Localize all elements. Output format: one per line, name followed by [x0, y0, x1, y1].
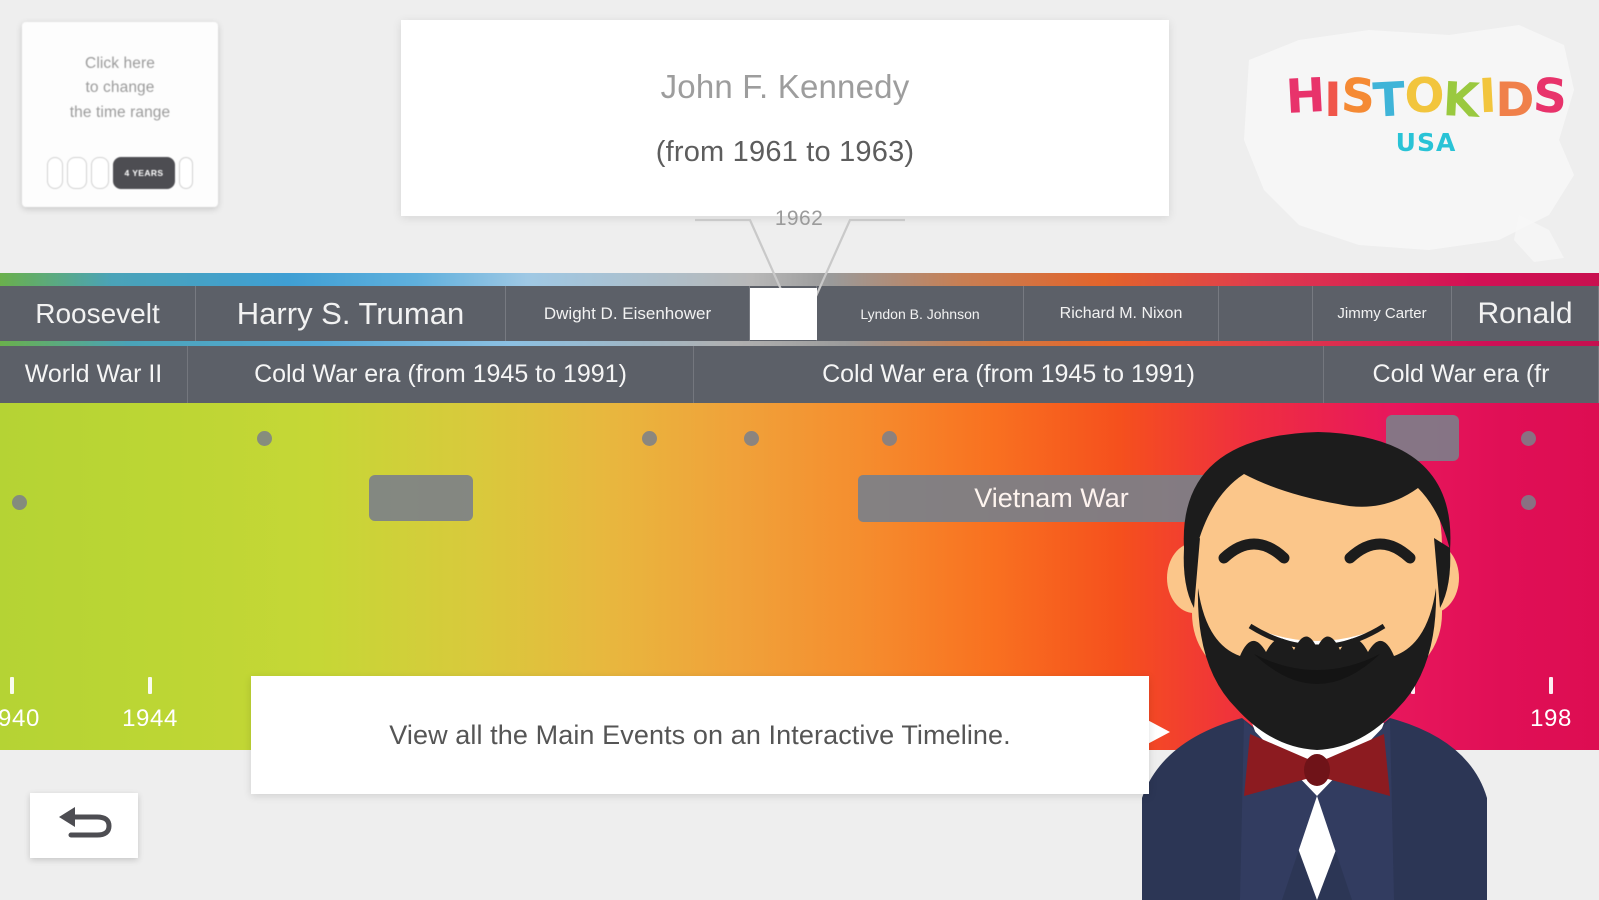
logo-letter-1: I	[1324, 77, 1341, 124]
event-chip-marker[interactable]	[369, 475, 473, 521]
president-cell[interactable]: Jimmy Carter	[1313, 286, 1452, 341]
logo-letter-7: D	[1495, 77, 1533, 124]
time-range-hint-line-2: to change	[70, 76, 171, 100]
event-dot-marker[interactable]	[1521, 431, 1536, 446]
event-chip-marker[interactable]	[1386, 415, 1459, 461]
era-cell[interactable]: Cold War era (from 1945 to 1991)	[188, 346, 694, 403]
era-cell[interactable]: World War II	[0, 346, 188, 403]
time-range-hint: Click here to change the time range	[70, 52, 171, 125]
era-cell[interactable]: Cold War era (from 1945 to 1991)	[694, 346, 1324, 403]
president-cell-empty[interactable]	[1219, 286, 1313, 341]
event-span-bar[interactable]: Vietnam War	[858, 475, 1245, 522]
president-name: John F. Kennedy	[661, 68, 910, 106]
time-range-pill-group[interactable]: 4 YEARS	[34, 156, 206, 190]
time-range-hint-line-1: Click here	[70, 52, 171, 76]
logo-wordmark: HISTOKIDS	[1281, 75, 1571, 122]
axis-tick-label: 1944	[122, 705, 178, 733]
event-dot-marker[interactable]	[1521, 495, 1536, 510]
timeline-top-rail	[0, 273, 1599, 286]
axis-tick	[148, 677, 152, 694]
axis-tick-label: 198	[1530, 705, 1572, 733]
logo-letter-3: T	[1372, 76, 1405, 125]
undo-arrow-icon	[53, 805, 115, 847]
logo-letter-0: H	[1284, 72, 1325, 121]
axis-tick	[1248, 677, 1252, 694]
axis-tick	[10, 677, 14, 694]
event-dot-marker[interactable]	[642, 431, 657, 446]
selected-president-slot[interactable]	[750, 288, 817, 340]
axis-tick-label: 1940	[0, 705, 40, 733]
president-info-card[interactable]: John F. Kennedy (from 1961 to 1963)	[401, 20, 1169, 216]
logo-letter-8: S	[1532, 72, 1567, 121]
time-range-card[interactable]: Click here to change the time range 4 YE…	[22, 22, 218, 207]
era-cell[interactable]: Cold War era (fr	[1324, 346, 1599, 403]
president-cell[interactable]: Dwight D. Eisenhower	[506, 286, 750, 341]
logo-letter-4: O	[1405, 73, 1444, 120]
president-cell[interactable]: Roosevelt	[0, 286, 196, 341]
eras-band[interactable]: World War IICold War era (from 1945 to 1…	[0, 346, 1599, 403]
president-term-range: (from 1961 to 1963)	[656, 136, 915, 169]
main-events-tooltip[interactable]: View all the Main Events on an Interacti…	[251, 676, 1149, 794]
timeline-app: Click here to change the time range 4 YE…	[0, 0, 1599, 900]
event-dot-marker[interactable]	[882, 431, 897, 446]
president-cell[interactable]: Richard M. Nixon	[1024, 286, 1219, 341]
logo-letter-2: S	[1339, 72, 1374, 121]
time-range-option-1[interactable]	[47, 157, 63, 189]
logo-letter-5: K	[1442, 76, 1480, 125]
president-cell[interactable]: Harry S. Truman	[196, 286, 506, 341]
main-events-tooltip-text: View all the Main Events on an Interacti…	[389, 720, 1011, 751]
undo-button[interactable]	[30, 793, 138, 858]
time-range-option-active[interactable]: 4 YEARS	[113, 157, 175, 189]
axis-tick	[1411, 677, 1415, 694]
histokids-logo[interactable]: HISTOKIDS USA	[1281, 75, 1571, 195]
era-divider-rail	[0, 341, 1599, 346]
selected-year-label: 1962	[744, 207, 854, 231]
logo-subtitle: USA	[1281, 128, 1571, 157]
president-cell[interactable]: Ronald	[1452, 286, 1599, 341]
time-range-hint-line-3: the time range	[70, 101, 171, 125]
time-range-option-3[interactable]	[91, 157, 109, 189]
logo-letter-6: I	[1478, 73, 1497, 121]
event-dot-marker[interactable]	[257, 431, 272, 446]
event-dot-marker[interactable]	[12, 495, 27, 510]
event-dot-marker[interactable]	[744, 431, 759, 446]
axis-tick	[1549, 677, 1553, 694]
time-range-option-2[interactable]	[67, 157, 87, 189]
time-range-option-5[interactable]	[179, 157, 193, 189]
president-cell[interactable]: Lyndon B. Johnson	[817, 286, 1024, 341]
